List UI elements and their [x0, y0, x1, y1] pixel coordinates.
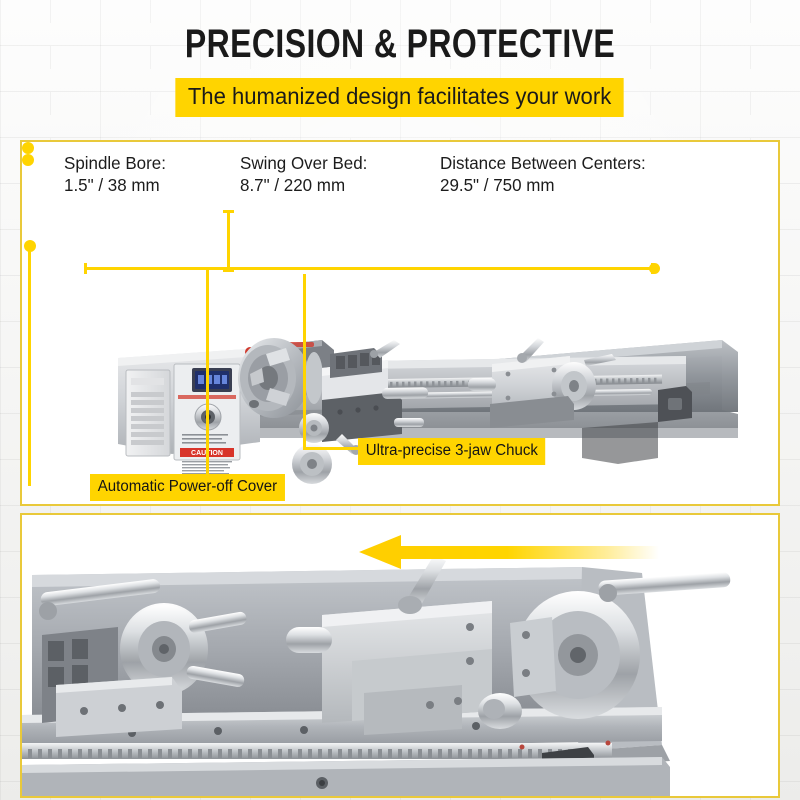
- spec-spindle-bore: Spindle Bore: 1.5" / 38 mm: [64, 152, 166, 196]
- distance-between-centers-endpoint-dot: [649, 263, 660, 274]
- spec-swing-over-bed: Swing Over Bed: 8.7" / 220 mm: [240, 152, 367, 196]
- power-off-cover-leader-line: [206, 267, 209, 485]
- page-title: PRECISION & PROTECTIVE: [80, 22, 720, 66]
- spec-distance-between-centers: Distance Between Centers: 29.5" / 750 mm: [440, 152, 646, 196]
- swing-over-bed-measure-line: [28, 246, 31, 486]
- feature-panel-overview: CAUTION: [20, 140, 780, 506]
- subtitle-container: The humanized design facilitates your wo…: [0, 78, 800, 117]
- callout-ultra-precise-chuck: Ultra-precise 3-jaw Chuck: [358, 438, 546, 465]
- distance-between-centers-measure-line: [84, 267, 654, 270]
- direction-arrow-left: [359, 535, 659, 569]
- chuck-leader-line-horizontal: [303, 447, 359, 450]
- chuck-leader-line-vertical: [303, 274, 306, 450]
- spindle-bore-measure-mark: [227, 210, 230, 272]
- arrow-tail: [397, 546, 659, 559]
- feature-panel-closeup: [20, 513, 780, 798]
- callout-automatic-power-off-cover: Automatic Power-off Cover: [90, 474, 285, 501]
- subtitle-banner: The humanized design facilitates your wo…: [176, 78, 624, 117]
- arrow-head: [359, 535, 401, 569]
